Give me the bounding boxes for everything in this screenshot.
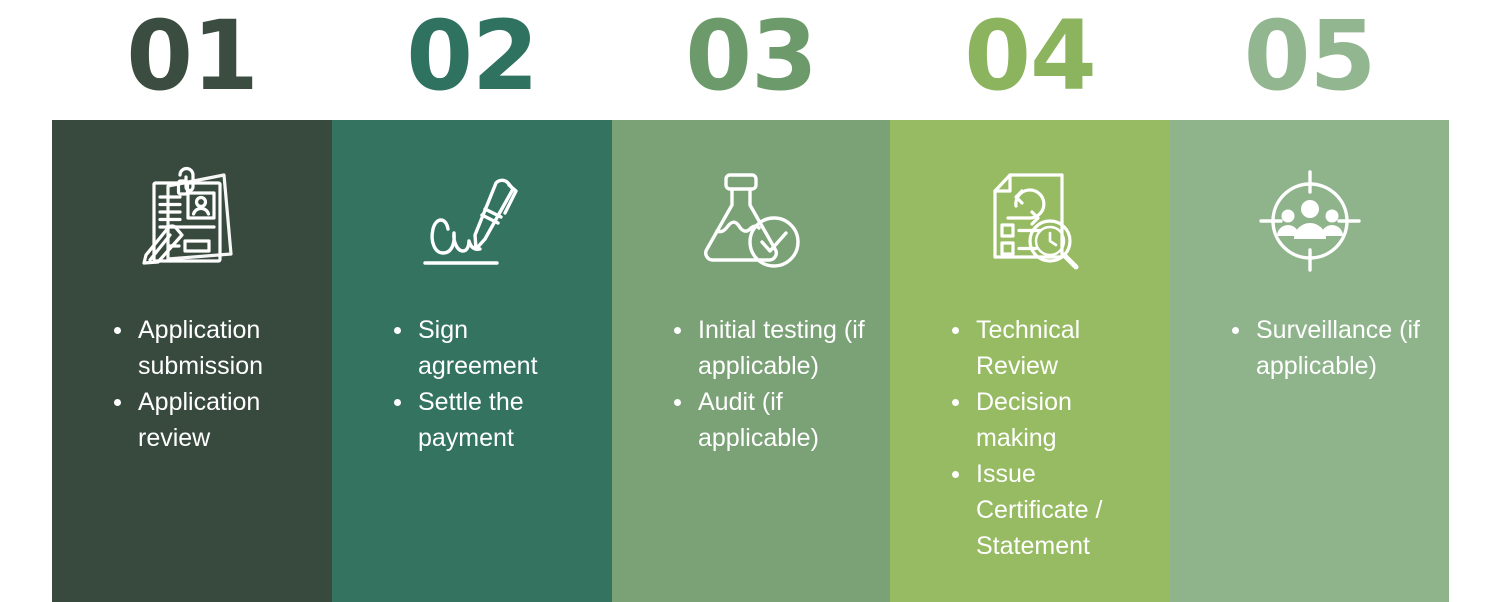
bullet-list-5: Surveillance (if applicable) bbox=[1170, 312, 1449, 384]
step-number-cell-5: 05 bbox=[1170, 0, 1449, 120]
step-number-05: 05 bbox=[1244, 8, 1376, 104]
step-panel-5: Surveillance (if applicable) bbox=[1170, 120, 1449, 602]
step-panel-4: Technical Review Decision making Issue C… bbox=[890, 120, 1170, 602]
list-item: Settle the payment bbox=[388, 384, 592, 456]
step-number-cell-2: 02 bbox=[332, 0, 612, 120]
list-item: Issue Certificate / Statement bbox=[946, 456, 1150, 564]
list-item: Decision making bbox=[946, 384, 1150, 456]
list-item: Application review bbox=[108, 384, 312, 456]
list-item: Initial testing (if applicable) bbox=[668, 312, 870, 384]
list-item: Sign agreement bbox=[388, 312, 592, 384]
step-number-02: 02 bbox=[406, 8, 538, 104]
flask-check-icon bbox=[686, 156, 816, 286]
step-number-cell-4: 04 bbox=[890, 0, 1170, 120]
signature-pen-icon bbox=[407, 156, 537, 286]
target-audience-icon bbox=[1245, 156, 1375, 286]
bullet-list-4: Technical Review Decision making Issue C… bbox=[890, 312, 1170, 564]
document-review-magnifier-icon bbox=[965, 156, 1095, 286]
step-number-cell-1: 01 bbox=[52, 0, 332, 120]
step-number-03: 03 bbox=[685, 8, 817, 104]
bullet-list-2: Sign agreement Settle the payment bbox=[332, 312, 612, 456]
list-item: Surveillance (if applicable) bbox=[1226, 312, 1435, 384]
list-item: Application submission bbox=[108, 312, 312, 384]
list-item: Technical Review bbox=[946, 312, 1150, 384]
step-number-cell-3: 03 bbox=[612, 0, 890, 120]
step-panel-3: Initial testing (if applicable) Audit (i… bbox=[612, 120, 890, 602]
step-numbers-row: 01 02 03 04 05 bbox=[52, 0, 1449, 120]
step-panel-1: Application submission Application revie… bbox=[52, 120, 332, 602]
step-number-04: 04 bbox=[964, 8, 1096, 104]
application-form-icon bbox=[127, 156, 257, 286]
step-panels-row: Application submission Application revie… bbox=[52, 120, 1449, 602]
bullet-list-3: Initial testing (if applicable) Audit (i… bbox=[612, 312, 890, 456]
step-number-01: 01 bbox=[126, 8, 258, 104]
step-panel-2: Sign agreement Settle the payment bbox=[332, 120, 612, 602]
process-infographic: 01 02 03 04 05 bbox=[0, 0, 1504, 602]
bullet-list-1: Application submission Application revie… bbox=[52, 312, 332, 456]
list-item: Audit (if applicable) bbox=[668, 384, 870, 456]
